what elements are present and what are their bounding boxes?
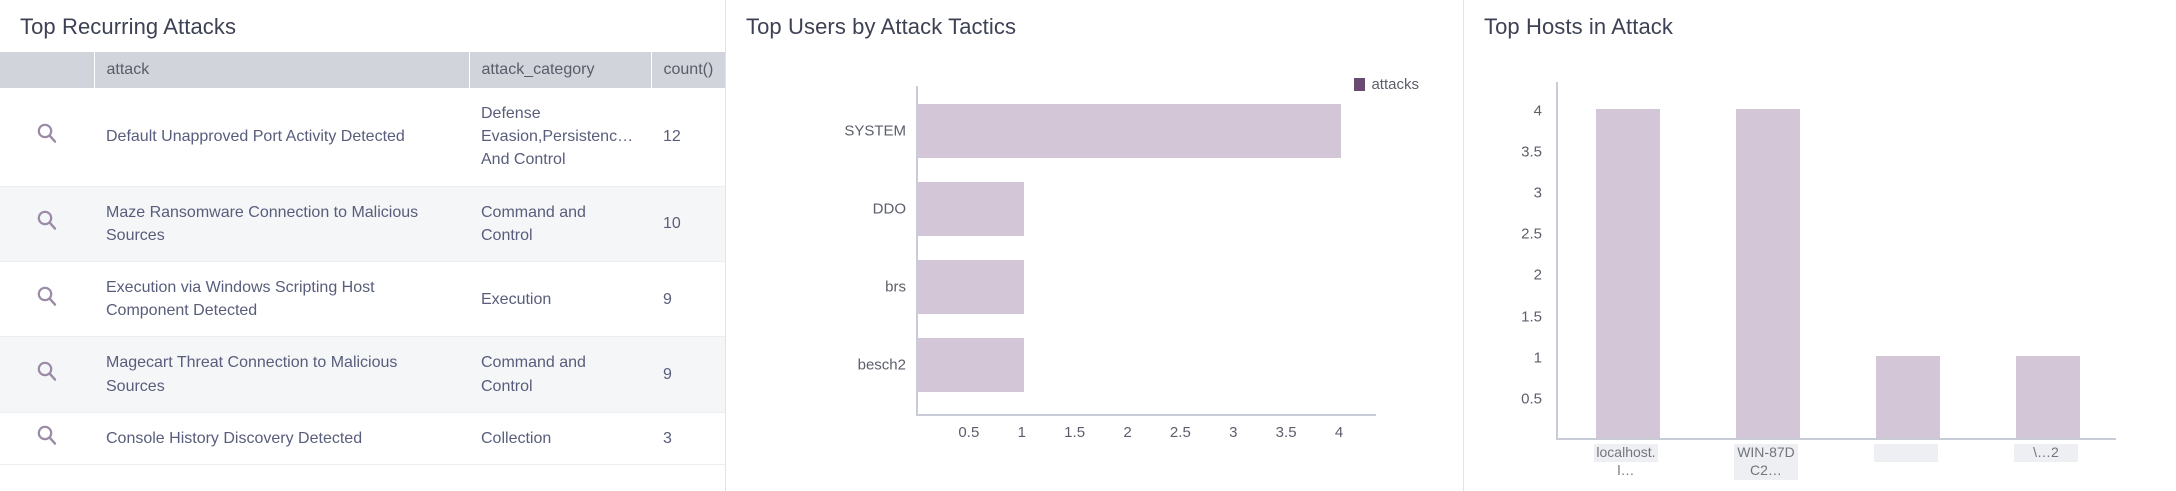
y-tick: 3.5 bbox=[1521, 143, 1542, 160]
x-axis-category-labels: localhost.l… WIN-87DC2… \…2 bbox=[1556, 444, 2116, 491]
x-tick: 0.5 bbox=[958, 424, 979, 441]
cell-count: 3 bbox=[651, 412, 726, 464]
cell-count: 12 bbox=[651, 88, 726, 186]
column-header-icon[interactable] bbox=[0, 52, 94, 88]
x-axis-ticks: 0.5 1 1.5 2 2.5 3 3.5 4 bbox=[916, 424, 1376, 448]
y-tick: 4 bbox=[1534, 102, 1542, 119]
page-title-top-hosts: Top Hosts in Attack bbox=[1464, 0, 2174, 52]
panel-top-users-by-attack-tactics: Top Users by Attack Tactics attacks SYST… bbox=[726, 0, 1464, 491]
y-axis-ticks: 4 3.5 3 2.5 2 1.5 1 0.5 bbox=[1464, 82, 1550, 440]
bar-segment[interactable] bbox=[918, 104, 1341, 158]
table-row[interactable]: Console History Discovery Detected Colle… bbox=[0, 412, 726, 464]
table-row[interactable]: Maze Ransomware Connection to Malicious … bbox=[0, 186, 726, 261]
column-header-attack-category[interactable]: attack_category bbox=[469, 52, 651, 88]
y-tick: 1 bbox=[1534, 349, 1542, 366]
search-icon[interactable] bbox=[36, 122, 58, 144]
panel-top-hosts-in-attack: Top Hosts in Attack 4 3.5 3 2.5 2 1.5 1 … bbox=[1464, 0, 2174, 491]
dashboard: Top Recurring Attacks attack attack_cate… bbox=[0, 0, 2176, 491]
recurring-attacks-table: attack attack_category count() bbox=[0, 52, 726, 465]
cell-attack: Default Unapproved Port Activity Detecte… bbox=[94, 88, 469, 186]
cell-count: 10 bbox=[651, 186, 726, 261]
cell-attack-category: Defense Evasion,Persistenc… And Control bbox=[469, 88, 651, 186]
cell-attack: Maze Ransomware Connection to Malicious … bbox=[94, 186, 469, 261]
cell-attack: Console History Discovery Detected bbox=[94, 412, 469, 464]
category-label: brs bbox=[885, 279, 906, 296]
cell-attack-category: Command and Control bbox=[469, 186, 651, 261]
x-tick: 3 bbox=[1229, 424, 1237, 441]
row-search-cell[interactable] bbox=[0, 412, 94, 464]
cell-attack-category: Collection bbox=[469, 412, 651, 464]
category-label: besch2 bbox=[858, 357, 906, 374]
x-tick: 4 bbox=[1335, 424, 1343, 441]
bar-1[interactable] bbox=[1736, 109, 1800, 438]
y-tick: 2.5 bbox=[1521, 226, 1542, 243]
cell-attack: Magecart Threat Connection to Malicious … bbox=[94, 337, 469, 412]
top-users-chart: attacks SYSTEM DDO brs besch2 bbox=[726, 52, 1463, 491]
column-header-attack[interactable]: attack bbox=[94, 52, 469, 88]
row-search-cell[interactable] bbox=[0, 261, 94, 336]
table-row[interactable]: Execution via Windows Scripting Host Com… bbox=[0, 261, 726, 336]
plot-area-horizontal-bars: SYSTEM DDO brs besch2 bbox=[916, 86, 1376, 416]
search-icon[interactable] bbox=[36, 285, 58, 307]
x-tick: 1 bbox=[1018, 424, 1026, 441]
bar-segment[interactable] bbox=[918, 260, 1024, 314]
x-tick: 2.5 bbox=[1170, 424, 1191, 441]
bar-2[interactable] bbox=[1876, 356, 1940, 438]
table-row[interactable]: Default Unapproved Port Activity Detecte… bbox=[0, 88, 726, 186]
search-icon[interactable] bbox=[36, 424, 58, 446]
bar-group-1[interactable]: DDO bbox=[918, 182, 1024, 236]
row-search-cell[interactable] bbox=[0, 186, 94, 261]
bar-0[interactable] bbox=[1596, 109, 1660, 438]
cell-attack-category: Command and Control bbox=[469, 337, 651, 412]
x-tick: 1.5 bbox=[1064, 424, 1085, 441]
bar-segment[interactable] bbox=[918, 182, 1024, 236]
table-body: Default Unapproved Port Activity Detecte… bbox=[0, 88, 726, 464]
page-title-recurring-attacks: Top Recurring Attacks bbox=[0, 0, 725, 52]
cell-attack: Execution via Windows Scripting Host Com… bbox=[94, 261, 469, 336]
bar-group-0[interactable]: SYSTEM bbox=[918, 104, 1341, 158]
category-label: DDO bbox=[873, 201, 906, 218]
category-label-shade bbox=[1874, 444, 1938, 462]
bar-3[interactable] bbox=[2016, 356, 2080, 438]
cell-count: 9 bbox=[651, 337, 726, 412]
cell-count: 9 bbox=[651, 261, 726, 336]
x-tick: 3.5 bbox=[1276, 424, 1297, 441]
cell-attack-category: Execution bbox=[469, 261, 651, 336]
category-label: localhost.l… bbox=[1594, 444, 1658, 479]
category-label: WIN-87DC2… bbox=[1734, 444, 1798, 479]
column-header-count[interactable]: count() bbox=[651, 52, 726, 88]
search-icon[interactable] bbox=[36, 360, 58, 382]
y-tick: 2 bbox=[1534, 267, 1542, 284]
x-tick: 2 bbox=[1123, 424, 1131, 441]
top-hosts-chart: 4 3.5 3 2.5 2 1.5 1 0.5 localhost. bbox=[1464, 52, 2174, 491]
table-header: attack attack_category count() bbox=[0, 52, 726, 88]
row-search-cell[interactable] bbox=[0, 337, 94, 412]
y-tick: 3 bbox=[1534, 185, 1542, 202]
plot-area-vertical-bars bbox=[1556, 82, 2116, 440]
category-label: SYSTEM bbox=[844, 123, 906, 140]
bar-segment[interactable] bbox=[918, 338, 1024, 392]
category-label: \…2 bbox=[2014, 444, 2078, 462]
table-header-row: attack attack_category count() bbox=[0, 52, 726, 88]
y-tick: 1.5 bbox=[1521, 308, 1542, 325]
bar-group-2[interactable]: brs bbox=[918, 260, 1024, 314]
y-tick: 0.5 bbox=[1521, 390, 1542, 407]
panel-top-recurring-attacks: Top Recurring Attacks attack attack_cate… bbox=[0, 0, 726, 491]
search-icon[interactable] bbox=[36, 209, 58, 231]
row-search-cell[interactable] bbox=[0, 88, 94, 186]
bar-group-3[interactable]: besch2 bbox=[918, 338, 1024, 392]
page-title-top-users: Top Users by Attack Tactics bbox=[726, 0, 1463, 52]
legend-label-attacks: attacks bbox=[1371, 76, 1419, 93]
table-row[interactable]: Magecart Threat Connection to Malicious … bbox=[0, 337, 726, 412]
